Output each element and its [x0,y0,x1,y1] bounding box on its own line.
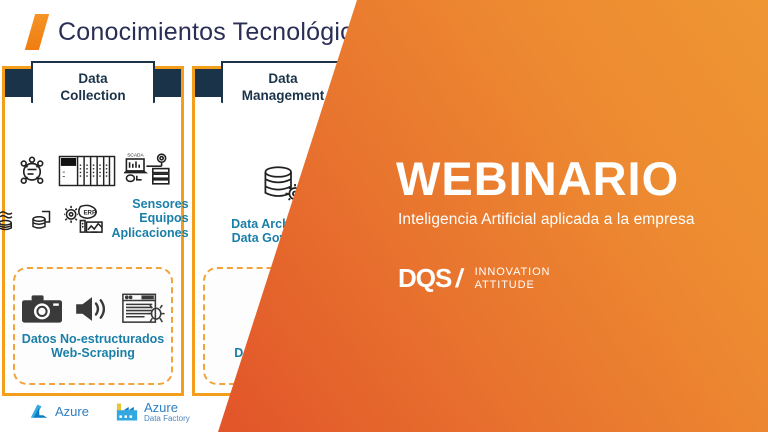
slide-title-row: Conocimientos Tecnológicos [0,8,380,56]
dashed-label-line2: Web-Scraping [22,346,164,360]
webinar-promo: WEBINARIO Inteligencia Artificial aplica… [396,0,768,432]
dqs-tagline-line2: ATTITUDE [475,279,551,292]
azure-triangle-icon [28,403,50,421]
azure-data-factory-logo: Azure Data Factory [115,401,190,423]
speaker-icon [73,293,111,325]
icon-row-devices: SCADA [11,151,175,191]
dashed-label-line1: Datos No-estructurados [22,332,164,346]
promo-subtitle: Inteligencia Artificial aplicada a la em… [398,211,695,229]
web-scraping-icon [121,292,165,326]
icon-row-data-sources: ERP Sensores Equipos [11,197,175,240]
dashed-box-label: Datos No-estructurados Web-Scraping [22,332,164,361]
database-stream-icon [0,204,27,234]
camera-icon [21,293,63,325]
iot-sensor-icon [14,153,50,189]
card-badge-line2: Management [227,88,339,105]
azure-logo-text: Azure [55,405,89,419]
slide-canvas: Conocimientos Tecnológicos Data Collecti… [0,0,768,432]
card-label-sources: Sensores Equipos Aplicaciones [111,197,188,240]
svg-text:SCADA: SCADA [127,153,144,159]
card-body: SCADA [5,97,181,393]
factory-icon [115,401,139,423]
page-title: Conocimientos Tecnológicos [58,18,380,47]
orange-slash-icon [25,14,49,50]
card-data-collection: Data Collection [2,66,184,396]
erp-gears-icon: ERP [63,202,107,236]
dqs-tagline: INNOVATION ATTITUDE [475,266,551,292]
dqs-wordmark: DQS [398,263,451,294]
label-line3: Aplicaciones [111,226,188,240]
label-line2: Equipos [111,211,188,225]
card-badge-line1: Data [37,71,149,88]
unstructured-icons [21,292,165,326]
azure-data-factory-text: Azure Data Factory [144,401,190,423]
svg-text:ERP: ERP [84,209,97,216]
dqs-slash-icon: / [454,263,466,294]
dqs-tagline-line1: INNOVATION [475,266,551,279]
scada-laptop-icon: SCADA [124,151,172,191]
azure-logo: Azure [28,403,89,421]
plc-rack-icon [58,154,116,188]
database-stack-icon [31,204,59,234]
card-badge-line2: Collection [37,88,149,105]
card-badge-line1: Data [227,71,339,88]
dqs-logo: DQS / INNOVATION ATTITUDE [398,263,550,294]
card-dashed-box: Datos No-estructurados Web-Scraping [13,267,173,385]
promo-heading: WEBINARIO [396,155,679,202]
adf-title: Azure [144,400,178,415]
label-line1: Sensores [111,197,188,211]
adf-subtitle: Data Factory [144,415,190,423]
